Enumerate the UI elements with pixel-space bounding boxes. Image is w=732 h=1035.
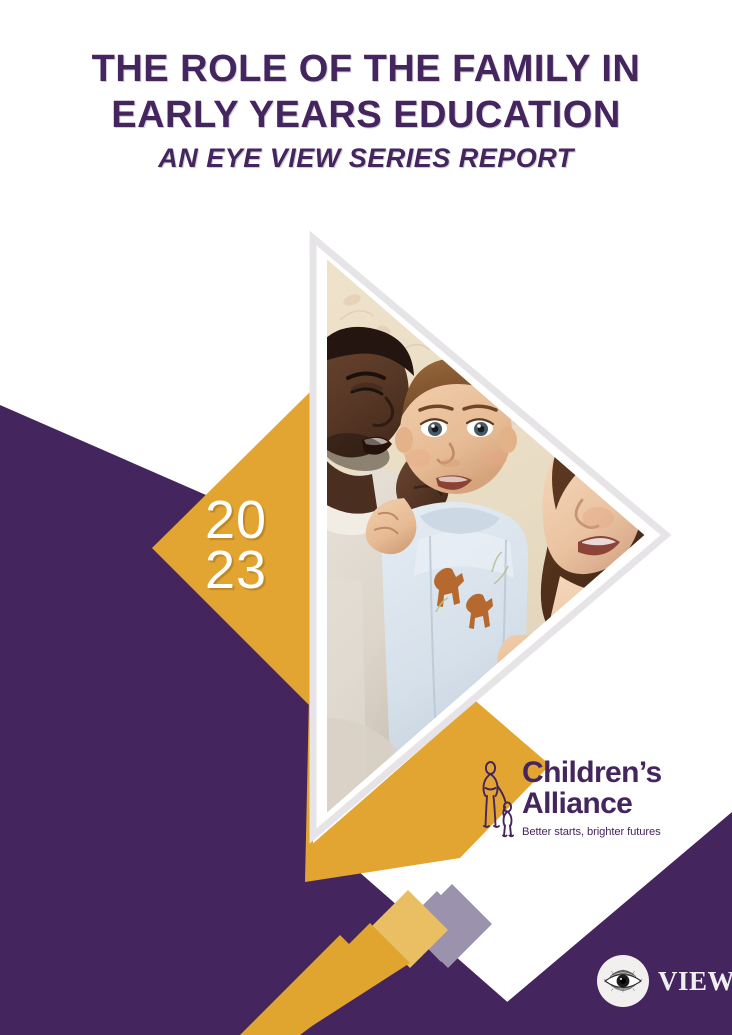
logo-tagline: Better starts, brighter futures	[522, 825, 678, 839]
view-series-badge: VIEW	[597, 955, 732, 1007]
eye-icon	[603, 967, 643, 995]
page-title-line-1: THE ROLE OF THE FAMILY IN	[0, 46, 732, 92]
view-badge-circle	[597, 955, 649, 1007]
logo-wordmark: Children’s Alliance Better starts, brigh…	[522, 757, 678, 839]
view-badge-label: VIEW	[658, 968, 732, 995]
logo-word-children: Children’s	[522, 757, 678, 788]
page-subtitle: AN EYE VIEW SERIES REPORT	[0, 138, 732, 178]
logo-word-alliance: Alliance	[522, 788, 678, 819]
cover-title-block: THE ROLE OF THE FAMILY IN EARLY YEARS ED…	[0, 46, 732, 178]
publication-year: 20 23	[205, 495, 305, 595]
adult-and-child-figures-icon	[478, 759, 518, 839]
report-cover: THE ROLE OF THE FAMILY IN EARLY YEARS ED…	[0, 0, 732, 1035]
year-digits-bottom: 23	[205, 545, 305, 595]
year-digits-top: 20	[205, 495, 305, 545]
page-title-line-2: EARLY YEARS EDUCATION	[0, 92, 732, 138]
childrens-alliance-logo: Children’s Alliance Better starts, brigh…	[478, 757, 678, 845]
